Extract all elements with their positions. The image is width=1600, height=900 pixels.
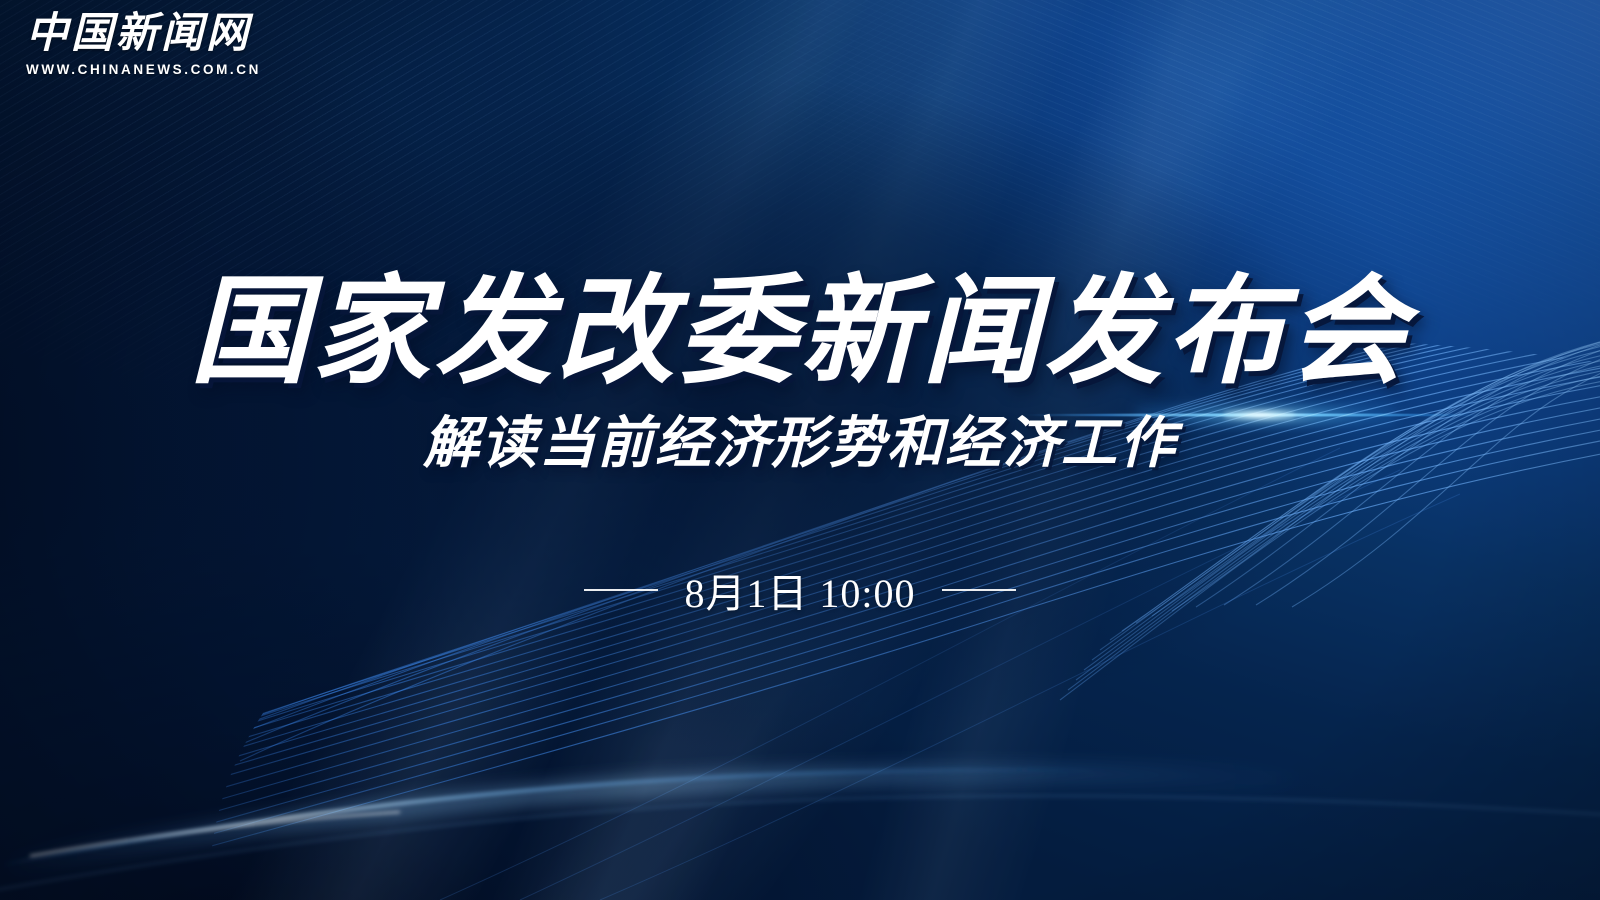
- page-title: 国家发改委新闻发布会: [190, 272, 1410, 392]
- date-rule-right: [942, 589, 1016, 591]
- date-rule-left: [584, 589, 658, 591]
- logo-url: WWW.CHINANEWS.COM.CN: [26, 62, 261, 77]
- event-datetime-row: 8月1日 10:00: [584, 561, 1015, 619]
- chinanews-logo[interactable]: 中国新闻网 WWW.CHINANEWS.COM.CN: [26, 12, 261, 77]
- page-subtitle: 解读当前经济形势和经济工作: [423, 414, 1177, 472]
- poster-canvas: 中国新闻网 WWW.CHINANEWS.COM.CN 国家发改委新闻发布会 解读…: [0, 0, 1600, 900]
- poster-content: 国家发改委新闻发布会 解读当前经济形势和经济工作 8月1日 10:00: [0, 0, 1600, 900]
- event-datetime: 8月1日 10:00: [684, 561, 915, 619]
- logo-name-cn: 中国新闻网: [26, 12, 261, 57]
